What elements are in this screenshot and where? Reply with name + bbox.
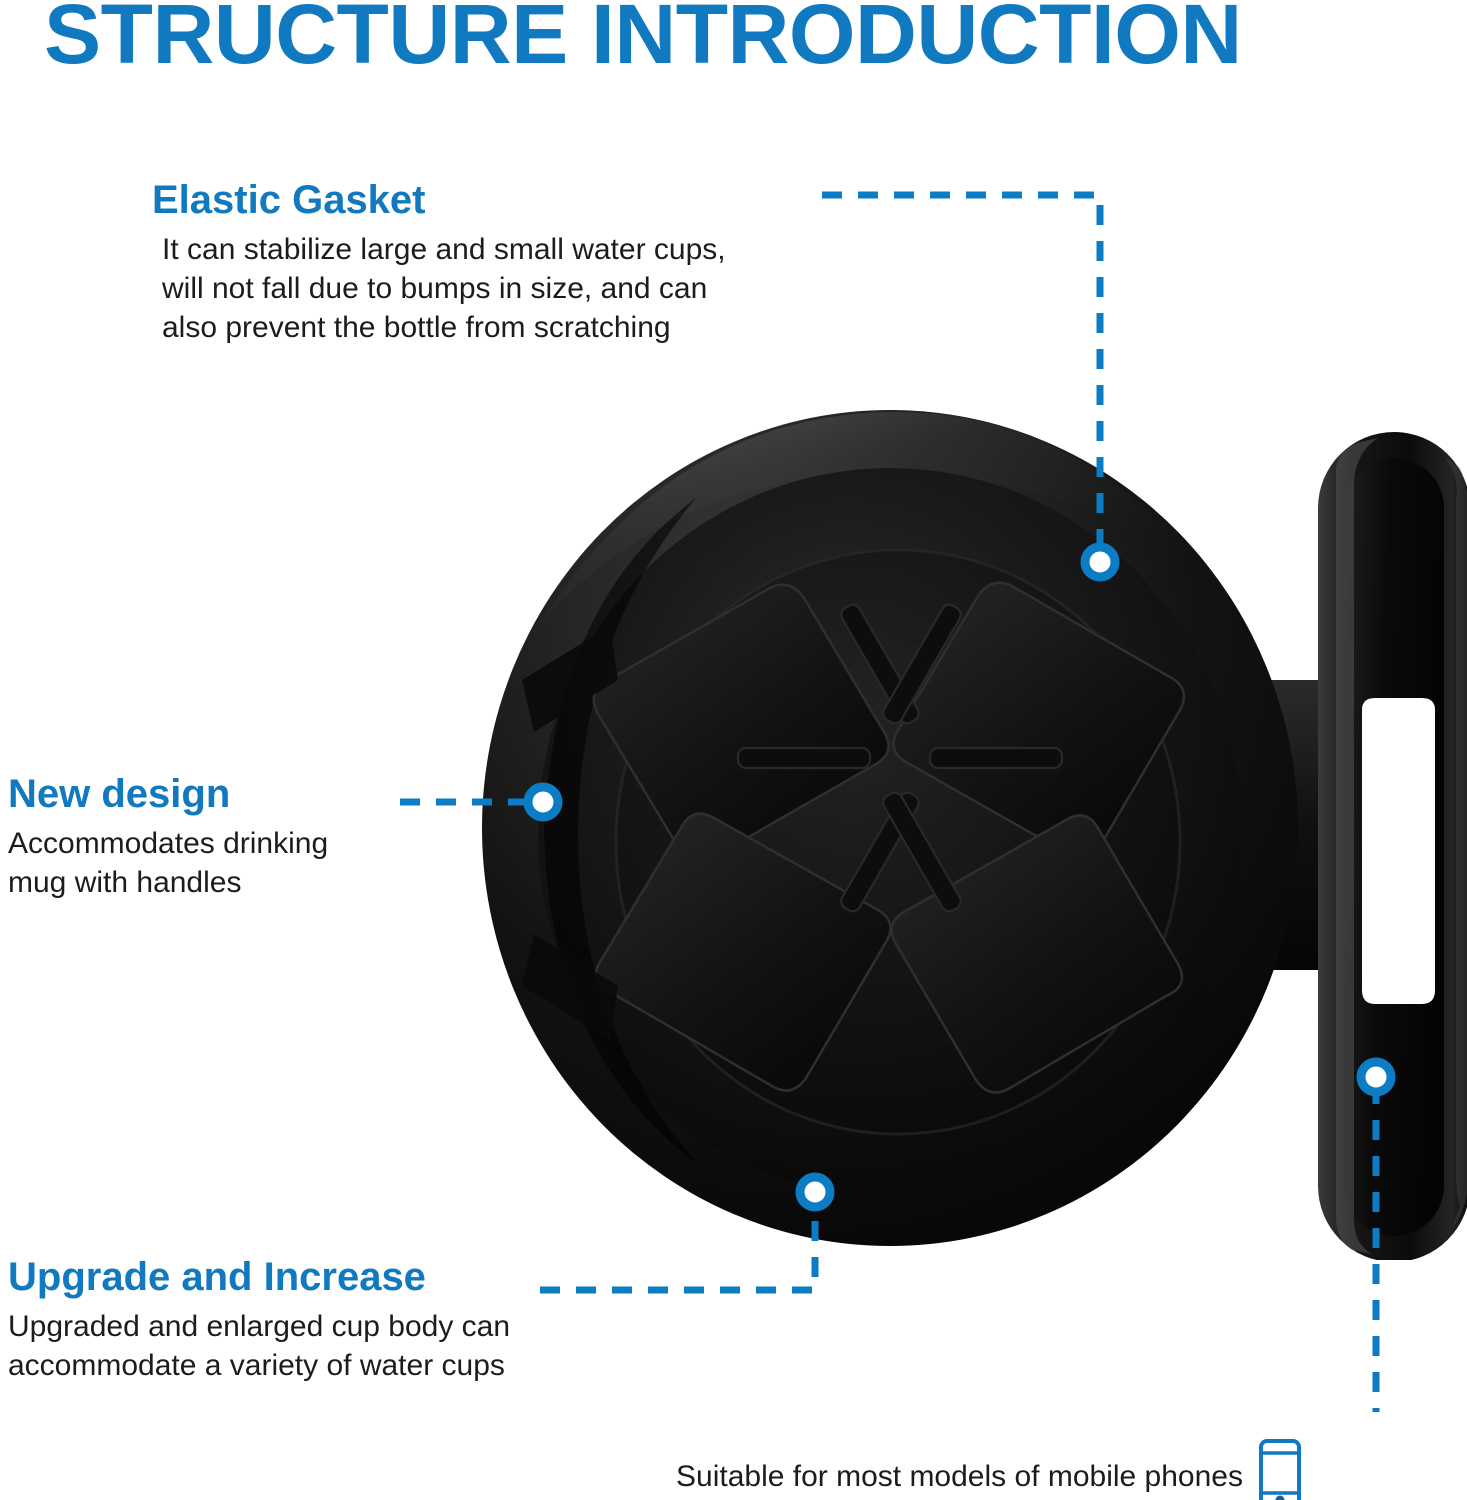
callout-line: accommodate a variety of water cups xyxy=(8,1346,510,1385)
callout-line: Upgraded and enlarged cup body can xyxy=(8,1307,510,1346)
product-illustration xyxy=(460,380,1467,1260)
phone-caption-text: Suitable for most models of mobile phone… xyxy=(676,1458,1243,1496)
callout-body-elastic-gasket: It can stabilize large and small water c… xyxy=(162,230,726,347)
callout-upgrade-and-increase: Upgrade and Increase Upgraded and enlarg… xyxy=(8,1253,510,1385)
callout-line: It can stabilize large and small water c… xyxy=(162,230,726,269)
callout-line: mug with handles xyxy=(8,863,328,902)
page-title: STRUCTURE INTRODUCTION xyxy=(44,0,1467,82)
callout-body-new-design: Accommodates drinking mug with handles xyxy=(8,824,328,902)
phone-compatibility-caption: Suitable for most models of mobile phone… xyxy=(676,1438,1303,1500)
callout-heading-elastic-gasket: Elastic Gasket xyxy=(152,176,726,224)
product-svg xyxy=(460,380,1467,1260)
callout-line: will not fall due to bumps in size, and … xyxy=(162,269,726,308)
callout-heading-upgrade-and-increase: Upgrade and Increase xyxy=(8,1253,510,1301)
callout-new-design: New design Accommodates drinking mug wit… xyxy=(8,770,328,902)
callout-body-upgrade-and-increase: Upgraded and enlarged cup body can accom… xyxy=(8,1307,510,1385)
callout-elastic-gasket: Elastic Gasket It can stabilize large an… xyxy=(152,176,726,347)
smartphone-icon xyxy=(1257,1438,1303,1500)
callout-heading-new-design: New design xyxy=(8,770,328,818)
infographic-page: STRUCTURE INTRODUCTION xyxy=(0,0,1467,1500)
callout-line: Accommodates drinking xyxy=(8,824,328,863)
callout-line: also prevent the bottle from scratching xyxy=(162,308,726,347)
